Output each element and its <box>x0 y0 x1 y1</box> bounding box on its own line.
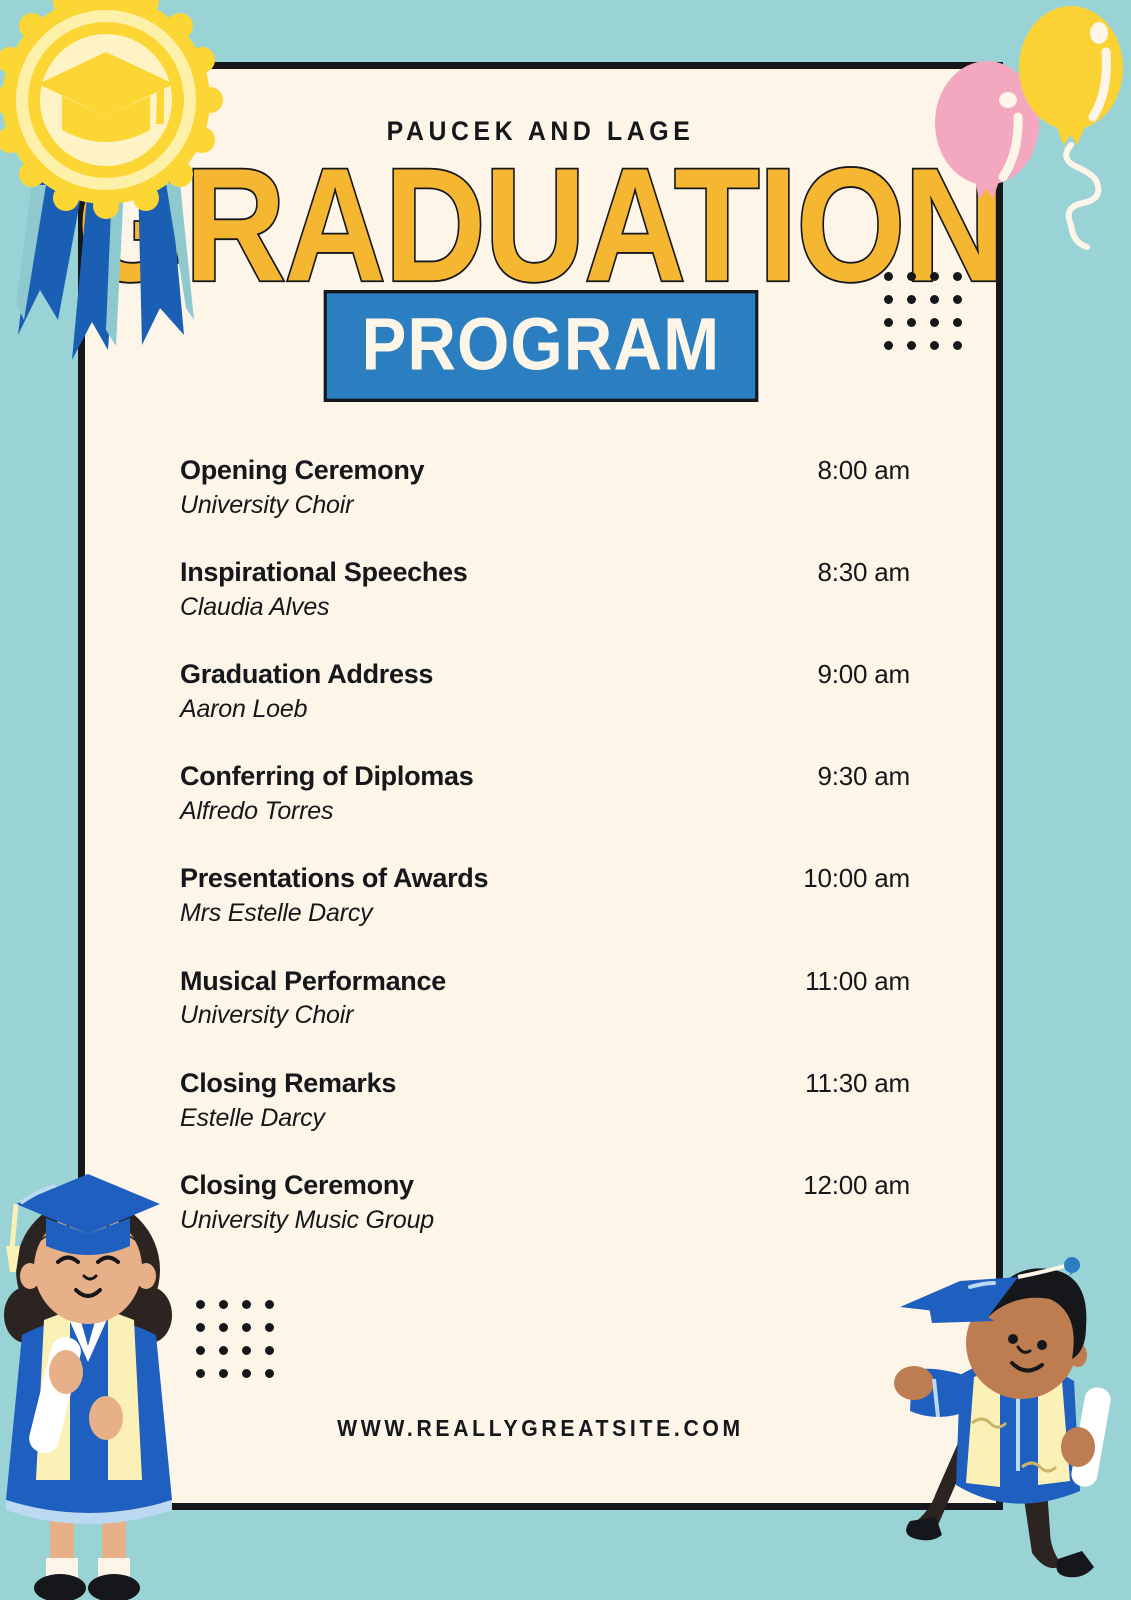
girl-graduate-illustration <box>0 1150 207 1600</box>
event-title: Closing Ceremony <box>180 1170 910 1202</box>
graduation-medal-ribbon-icon <box>0 0 232 365</box>
graduation-program-poster: PAUCEK AND LAGE GRADUATION PROGRAM Openi… <box>0 0 1131 1600</box>
event-person: Mrs Estelle Darcy <box>180 898 910 929</box>
schedule-row: Graduation Address Aaron Loeb 9:00 am <box>180 659 910 725</box>
schedule-row: Conferring of Diplomas Alfredo Torres 9:… <box>180 761 910 827</box>
event-title: Presentations of Awards <box>180 863 910 895</box>
event-time: 11:00 am <box>805 966 910 997</box>
event-person: University Music Group <box>180 1205 910 1236</box>
event-time: 10:00 am <box>803 863 910 894</box>
event-person: University Choir <box>180 1000 910 1031</box>
event-time: 8:30 am <box>817 557 910 588</box>
event-title: Conferring of Diplomas <box>180 761 910 793</box>
event-person: Alfredo Torres <box>180 796 910 827</box>
dot-grid-decoration <box>196 1300 274 1378</box>
website-url: WWW.REALLYGREATSITE.COM <box>115 1415 966 1442</box>
event-title: Inspirational Speeches <box>180 557 910 589</box>
balloons-decoration <box>905 0 1131 260</box>
schedule-row: Closing Ceremony University Music Group … <box>180 1170 910 1236</box>
schedule-row: Closing Remarks Estelle Darcy 11:30 am <box>180 1068 910 1134</box>
event-person: Estelle Darcy <box>180 1103 910 1134</box>
schedule-list: Opening Ceremony University Choir 8:00 a… <box>180 455 910 1236</box>
dot-grid-decoration <box>884 272 962 350</box>
schedule-row: Opening Ceremony University Choir 8:00 a… <box>180 455 910 521</box>
schedule-row: Musical Performance University Choir 11:… <box>180 966 910 1032</box>
event-time: 8:00 am <box>817 455 910 486</box>
event-title: Musical Performance <box>180 966 910 998</box>
schedule-row: Presentations of Awards Mrs Estelle Darc… <box>180 863 910 929</box>
event-person: Aaron Loeb <box>180 694 910 725</box>
event-title: Graduation Address <box>180 659 910 691</box>
event-title: Closing Remarks <box>180 1068 910 1100</box>
schedule-row: Inspirational Speeches Claudia Alves 8:3… <box>180 557 910 623</box>
event-title: Opening Ceremony <box>180 455 910 487</box>
page-subtitle: PROGRAM <box>323 290 757 402</box>
event-person: Claudia Alves <box>180 592 910 623</box>
boy-graduate-illustration <box>872 1235 1131 1600</box>
event-time: 9:00 am <box>817 659 910 690</box>
event-time: 11:30 am <box>805 1068 910 1099</box>
event-time: 9:30 am <box>817 761 910 792</box>
event-person: University Choir <box>180 490 910 521</box>
event-time: 12:00 am <box>803 1170 910 1201</box>
